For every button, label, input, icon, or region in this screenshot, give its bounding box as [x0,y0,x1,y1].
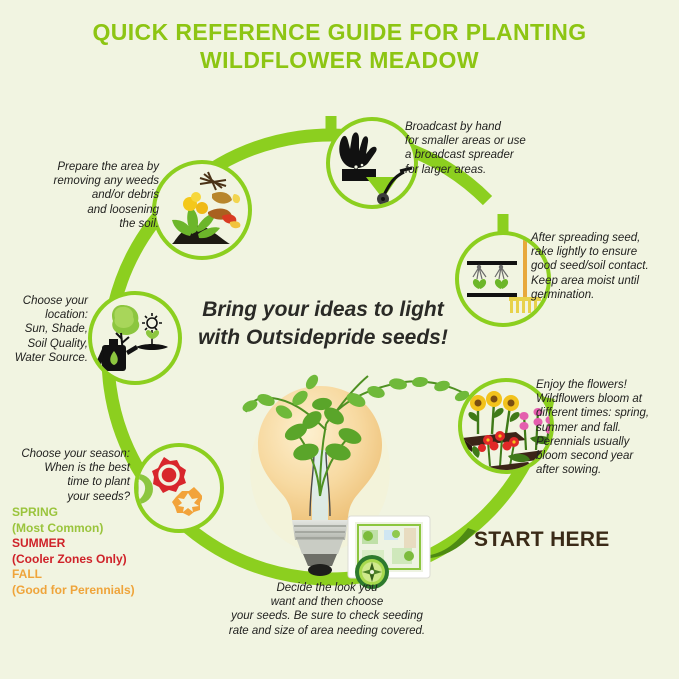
season-note-fall: (Good for Perennials) [12,583,187,599]
caption-broadcast-seed: Broadcast by hand for smaller areas or u… [405,120,560,177]
caption-choose-season: Choose your season: When is the best tim… [8,447,130,504]
season-name-spring: SPRING [12,505,187,521]
tree-sun-wateringcan-icon [92,295,178,381]
season-name-summer: SUMMER [12,536,187,552]
tagline-line-1: Bring your ideas to light [178,296,468,324]
infographic-canvas: QUICK REFERENCE GUIDE FOR PLANTING WILDF… [0,0,679,679]
weeds-debris-icon [156,164,248,256]
tagline-line-2: with Outsidepride seeds! [178,324,468,352]
caption-enjoy-flowers: Enjoy the flowers! Wildflowers bloom at … [536,378,678,477]
season-name-fall: FALL [12,567,187,583]
start-here-label: START HERE [474,528,610,552]
caption-rake-and-water: After spreading seed, rake lightly to en… [531,231,677,302]
caption-decide-look: Decide the look you want and then choose… [196,581,458,638]
season-note-summer: (Cooler Zones Only) [12,552,187,568]
step-node-prepare-area[interactable] [152,160,252,260]
brand-tagline: Bring your ideas to light with Outsidepr… [178,296,468,352]
caption-prepare-area: Prepare the area by removing any weeds a… [46,160,159,231]
step-node-choose-location[interactable] [88,291,182,385]
season-list: SPRING (Most Common) SUMMER (Cooler Zone… [12,505,187,598]
season-note-spring: (Most Common) [12,521,187,537]
hand-spreader-icon [330,121,414,205]
caption-choose-location: Choose your location: Sun, Shade, Soil Q… [2,294,88,365]
